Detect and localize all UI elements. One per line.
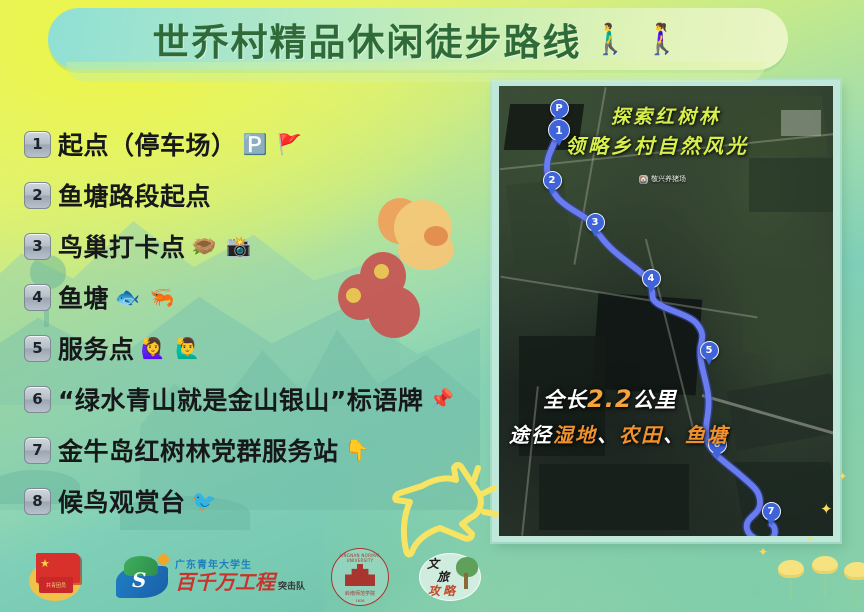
raising-hands-icon: 🙋‍♀️ 🙋‍♂️: [141, 336, 202, 361]
list-item[interactable]: 8 候鸟观赏台 🐦: [8, 477, 500, 525]
gd-wave-leaf-icon: S: [114, 552, 170, 602]
via-prefix-label: 途径: [509, 423, 553, 447]
gd-youth-program-name: 百千万工程: [175, 572, 275, 593]
gd-mark-letter: S: [132, 568, 146, 592]
walking-people-icon: 🚶‍♂️ 🚶‍♀️: [591, 22, 683, 57]
map-headline-line1: 探索红树林: [611, 102, 721, 129]
list-item[interactable]: 6 “绿水青山就是金山银山”标语牌 📌: [8, 375, 500, 423]
route-number-badge: 5: [24, 335, 51, 362]
seal-arc-text: LINGNAN NORMAL UNIVERSITY: [337, 553, 383, 563]
route-number-badge: 6: [24, 386, 51, 413]
pointing-hand-icon: 👇: [345, 438, 372, 463]
nest-camera-icon: 🪹 📸: [192, 234, 253, 259]
route-point-label: 金牛岛红树林党群服务站: [58, 432, 339, 468]
map-marker-3[interactable]: 3: [586, 213, 605, 232]
bird-icon: 🐦: [192, 489, 219, 514]
fish-shrimp-icon: 🐟 🦐: [115, 285, 176, 310]
route-number-badge: 8: [24, 488, 51, 515]
via-separator: 、: [663, 423, 685, 447]
pushpin-icon: 📌: [429, 387, 456, 412]
list-item[interactable]: 7 金牛岛红树林党群服务站 👇: [8, 426, 500, 474]
map-panel[interactable]: P 1 2 3 4 5 6 7 8 🏠 敬兴养猪场 探索红树林 领略乡村自然风光…: [492, 80, 840, 542]
header-banner: 世乔村精品休闲徒步路线 🚶‍♂️ 🚶‍♀️: [48, 8, 788, 70]
map-marker-2[interactable]: 2: [543, 171, 562, 190]
distance-value: 2.2: [587, 385, 633, 413]
ct-char-lue: 略: [443, 582, 455, 599]
seal-year: 1636: [331, 599, 389, 603]
route-point-label: 候鸟观赏台: [58, 483, 186, 519]
route-number-badge: 3: [24, 233, 51, 260]
map-marker-5[interactable]: 5: [700, 341, 719, 360]
page-title: 世乔村精品休闲徒步路线: [152, 12, 581, 66]
map-headline-line2: 领略乡村自然风光: [565, 130, 749, 159]
university-seal-logo: LINGNAN NORMAL UNIVERSITY 岭南师范学院 1636: [331, 548, 389, 606]
list-item[interactable]: 5 服务点 🙋‍♀️ 🙋‍♂️: [8, 324, 500, 372]
ct-char-gong: 攻: [428, 582, 440, 599]
via-item-farmland: 农田: [619, 423, 663, 447]
distance-prefix-label: 全长: [543, 388, 587, 412]
route-via-landscapes: 途径湿地、农田、鱼塘: [509, 419, 729, 448]
route-number-badge: 1: [24, 131, 51, 158]
via-item-wetland: 湿地: [553, 423, 597, 447]
route-point-label: 服务点: [58, 330, 135, 366]
league-badge-text: 共青团员: [39, 577, 73, 593]
tree-icon: [453, 557, 479, 589]
route-number-badge: 4: [24, 284, 51, 311]
list-item[interactable]: 3 鸟巢打卡点 🪹 📸: [8, 222, 500, 270]
map-marker-7[interactable]: 7: [762, 502, 781, 521]
star-icon: ★: [40, 557, 50, 570]
poi-marker-icon: 🏠: [639, 175, 648, 184]
youth-league-emblem-icon: ★ 共青团员: [26, 551, 88, 603]
map-marker-parking[interactable]: P: [550, 99, 569, 118]
via-item-fishpond: 鱼塘: [685, 423, 729, 447]
map-poi-label[interactable]: 🏠 敬兴养猪场: [639, 174, 686, 184]
route-point-label: 起点（停车场）: [58, 126, 237, 162]
route-distance-block: 全长2.2公里 途径湿地、农田、鱼塘: [509, 384, 729, 448]
list-item[interactable]: 4 鱼塘 🐟 🦐: [8, 273, 500, 321]
gd-youth-program-logo: S 广东青年大学生 百千万工程 突击队: [114, 552, 305, 602]
gd-youth-team-name: 突击队: [278, 583, 305, 592]
seal-university-name: 岭南师范学院: [331, 590, 389, 597]
parking-flag-icon: 🅿️ 🚩: [243, 132, 304, 157]
poi-label-text: 敬兴养猪场: [651, 174, 686, 184]
route-point-list: 1 起点（停车场） 🅿️ 🚩 2 鱼塘路段起点 3 鸟巢打卡点 🪹 📸 4 鱼塘…: [8, 120, 500, 528]
poster-canvas: 世乔村精品休闲徒步路线 🚶‍♂️ 🚶‍♀️ 1 起点（停车场） 🅿️ 🚩 2 鱼…: [0, 0, 864, 612]
route-number-badge: 2: [24, 182, 51, 209]
map-marker-4[interactable]: 4: [642, 269, 661, 288]
via-separator: 、: [597, 423, 619, 447]
route-point-label: 鱼塘: [58, 279, 109, 315]
satellite-map[interactable]: P 1 2 3 4 5 6 7 8 🏠 敬兴养猪场 探索红树林 领略乡村自然风光…: [499, 86, 833, 536]
distance-unit-label: 公里: [633, 388, 677, 412]
route-number-badge: 7: [24, 437, 51, 464]
list-item[interactable]: 1 起点（停车场） 🅿️ 🚩: [8, 120, 500, 168]
route-point-label: 鸟巢打卡点: [58, 228, 186, 264]
footer-logo-bar: ★ 共青团员 S 广东青年大学生 百千万工程 突击队 LINGNAN NORMA…: [0, 542, 864, 612]
list-item[interactable]: 2 鱼塘路段起点: [8, 171, 500, 219]
route-total-distance: 全长2.2公里: [509, 384, 729, 414]
culture-travel-logo: 文 旅 攻 略: [415, 549, 485, 605]
route-point-label: “绿水青山就是金山银山”标语牌: [58, 381, 423, 417]
route-point-label: 鱼塘路段起点: [58, 177, 211, 213]
